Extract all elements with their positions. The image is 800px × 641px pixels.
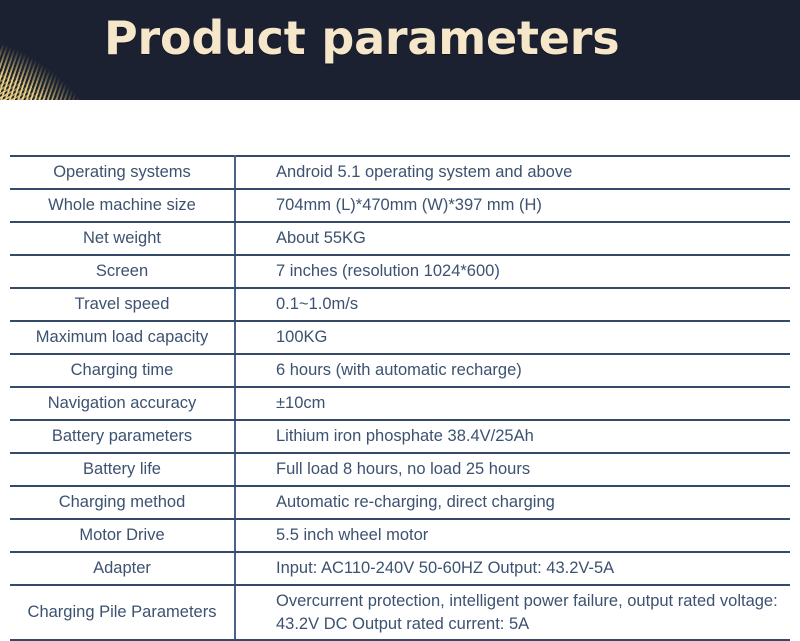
spec-label-cell: Battery parameters <box>10 420 235 453</box>
table-row: Charging Pile ParametersOvercurrent prot… <box>10 585 790 640</box>
header-banner: Product parameters <box>0 0 800 100</box>
spec-label-cell: Charging Pile Parameters <box>10 585 235 640</box>
spec-value-cell: Overcurrent protection, intelligent powe… <box>235 585 790 640</box>
table-row: Screen7 inches (resolution 1024*600) <box>10 255 790 288</box>
spec-label-cell: Operating systems <box>10 156 235 189</box>
spec-value-cell: ±10cm <box>235 387 790 420</box>
table-row: Navigation accuracy±10cm <box>10 387 790 420</box>
table-row: Maximum load capacity100KG <box>10 321 790 354</box>
spec-label-cell: Net weight <box>10 222 235 255</box>
table-row: Operating systemsAndroid 5.1 operating s… <box>10 156 790 189</box>
spec-label-cell: Whole machine size <box>10 189 235 222</box>
spec-label-cell: Motor Drive <box>10 519 235 552</box>
spec-value-cell: 704mm (L)*470mm (W)*397 mm (H) <box>235 189 790 222</box>
table-row: Motor Drive5.5 inch wheel motor <box>10 519 790 552</box>
spec-value-cell: Input: AC110-240V 50-60HZ Output: 43.2V-… <box>235 552 790 585</box>
spec-label-cell: Adapter <box>10 552 235 585</box>
spec-label-cell: Travel speed <box>10 288 235 321</box>
table-row: AdapterInput: AC110-240V 50-60HZ Output:… <box>10 552 790 585</box>
table-row: Charging time6 hours (with automatic rec… <box>10 354 790 387</box>
spec-value-cell: 7 inches (resolution 1024*600) <box>235 255 790 288</box>
spec-label-cell: Navigation accuracy <box>10 387 235 420</box>
spec-table: Operating systemsAndroid 5.1 operating s… <box>10 155 790 641</box>
spec-label-cell: Charging method <box>10 486 235 519</box>
spec-value-cell: Lithium iron phosphate 38.4V/25Ah <box>235 420 790 453</box>
spec-value-cell: About 55KG <box>235 222 790 255</box>
spec-label-cell: Charging time <box>10 354 235 387</box>
spec-value-cell: Full load 8 hours, no load 25 hours <box>235 453 790 486</box>
spec-label-cell: Maximum load capacity <box>10 321 235 354</box>
product-parameters-page: Product parameters Operating systemsAndr… <box>0 0 800 640</box>
table-row: Travel speed0.1~1.0m/s <box>10 288 790 321</box>
spec-value-cell: 0.1~1.0m/s <box>235 288 790 321</box>
table-row: Battery parametersLithium iron phosphate… <box>10 420 790 453</box>
spec-value-cell: 100KG <box>235 321 790 354</box>
spec-value-cell: Android 5.1 operating system and above <box>235 156 790 189</box>
page-title: Product parameters <box>104 2 619 74</box>
spec-value-cell: Automatic re-charging, direct charging <box>235 486 790 519</box>
spec-value-cell: 6 hours (with automatic recharge) <box>235 354 790 387</box>
table-row: Charging methodAutomatic re-charging, di… <box>10 486 790 519</box>
table-row: Whole machine size704mm (L)*470mm (W)*39… <box>10 189 790 222</box>
spec-label-cell: Screen <box>10 255 235 288</box>
spec-table-container: Operating systemsAndroid 5.1 operating s… <box>0 100 800 641</box>
table-row: Battery lifeFull load 8 hours, no load 2… <box>10 453 790 486</box>
spec-value-cell: 5.5 inch wheel motor <box>235 519 790 552</box>
spec-label-cell: Battery life <box>10 453 235 486</box>
table-row: Net weightAbout 55KG <box>10 222 790 255</box>
